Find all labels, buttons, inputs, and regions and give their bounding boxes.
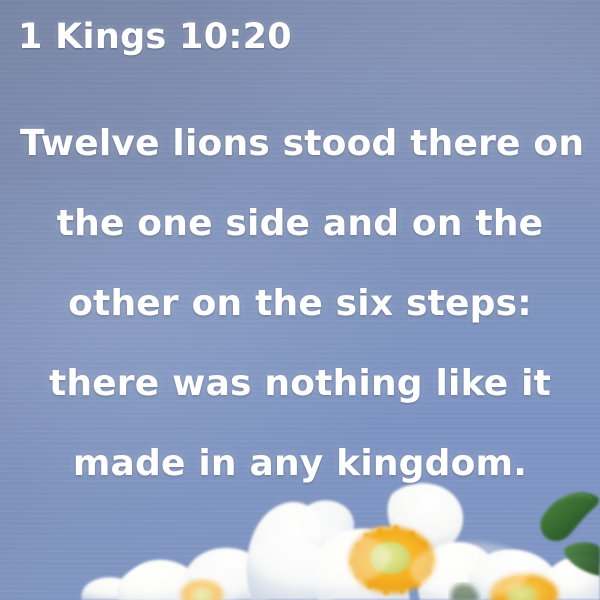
verse-text: Twelve lions stood there on the one side… <box>0 104 600 504</box>
scripture-verse-card: 1 Kings 10:20 Twelve lions stood there o… <box>0 0 600 600</box>
verse-line: there was nothing like it <box>0 344 600 424</box>
verse-reference: 1 Kings 10:20 <box>18 17 292 57</box>
verse-line: the one side and on the <box>0 184 600 264</box>
verse-line: made in any kingdom. <box>0 424 600 504</box>
verse-line: other on the six steps: <box>0 264 600 344</box>
verse-line: Twelve lions stood there on <box>0 104 600 184</box>
